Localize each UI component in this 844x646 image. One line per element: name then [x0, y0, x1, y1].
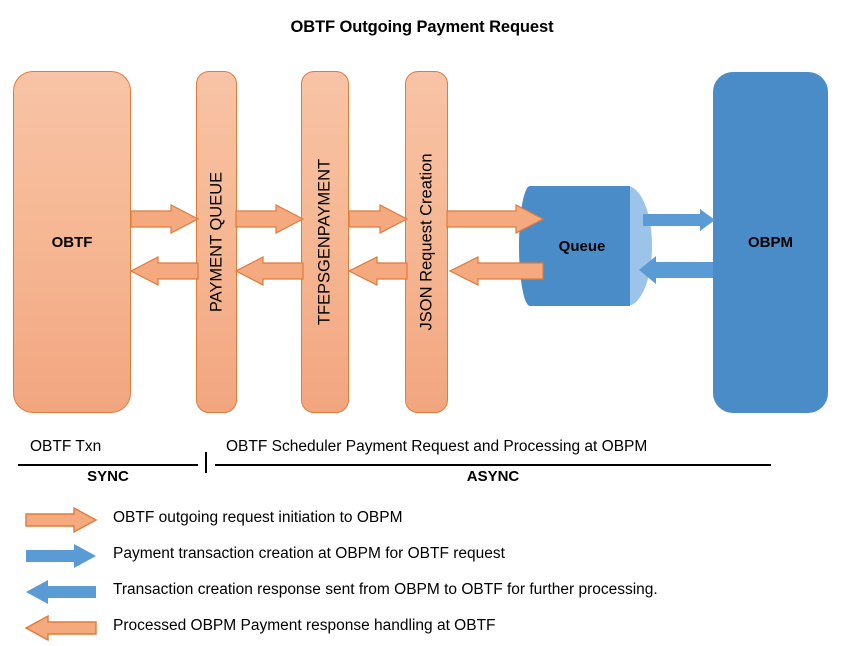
arrow-tfeps-to-json-icon: [349, 205, 407, 233]
arrow-right-orange-icon: [22, 505, 100, 535]
legend-item-label: OBTF outgoing request initiation to OBPM: [113, 509, 402, 527]
legend-item-label: Transaction creation response sent from …: [113, 581, 658, 599]
sync-rule: [18, 464, 198, 466]
arrow-left-orange-icon: [22, 613, 100, 643]
arrow-obtf-to-payment-queue-icon: [131, 205, 198, 233]
arrow-left-blue-icon: [22, 577, 100, 607]
arrow-obpm-to-queue-icon: [639, 256, 713, 284]
phase-divider: [205, 452, 207, 473]
arrow-json-to-queue-icon: [447, 205, 543, 233]
arrow-right-blue-icon: [22, 541, 100, 571]
node-queue-label: Queue: [530, 186, 634, 306]
arrow-payment-queue-to-tfeps-icon: [236, 205, 303, 233]
legend-item-label: Payment transaction creation at OBPM for…: [113, 545, 505, 563]
sync-mode-label: SYNC: [18, 468, 198, 485]
async-rule: [215, 464, 771, 466]
arrow-json-to-tfeps-icon: [349, 257, 407, 285]
arrow-tfeps-to-payment-queue-icon: [236, 257, 303, 285]
legend-item-label: Processed OBPM Payment response handling…: [113, 617, 496, 635]
arrow-payment-queue-to-obtf-icon: [131, 257, 198, 285]
diagram-canvas: OBTF Outgoing Payment Request OBTF PAYME…: [0, 0, 844, 646]
node-queue[interactable]: Queue: [530, 186, 652, 306]
async-mode-label: ASYNC: [215, 468, 771, 485]
sync-description: OBTF Txn: [30, 438, 101, 456]
arrow-queue-to-obpm-icon: [643, 209, 715, 231]
async-description: OBTF Scheduler Payment Request and Proce…: [226, 438, 647, 456]
